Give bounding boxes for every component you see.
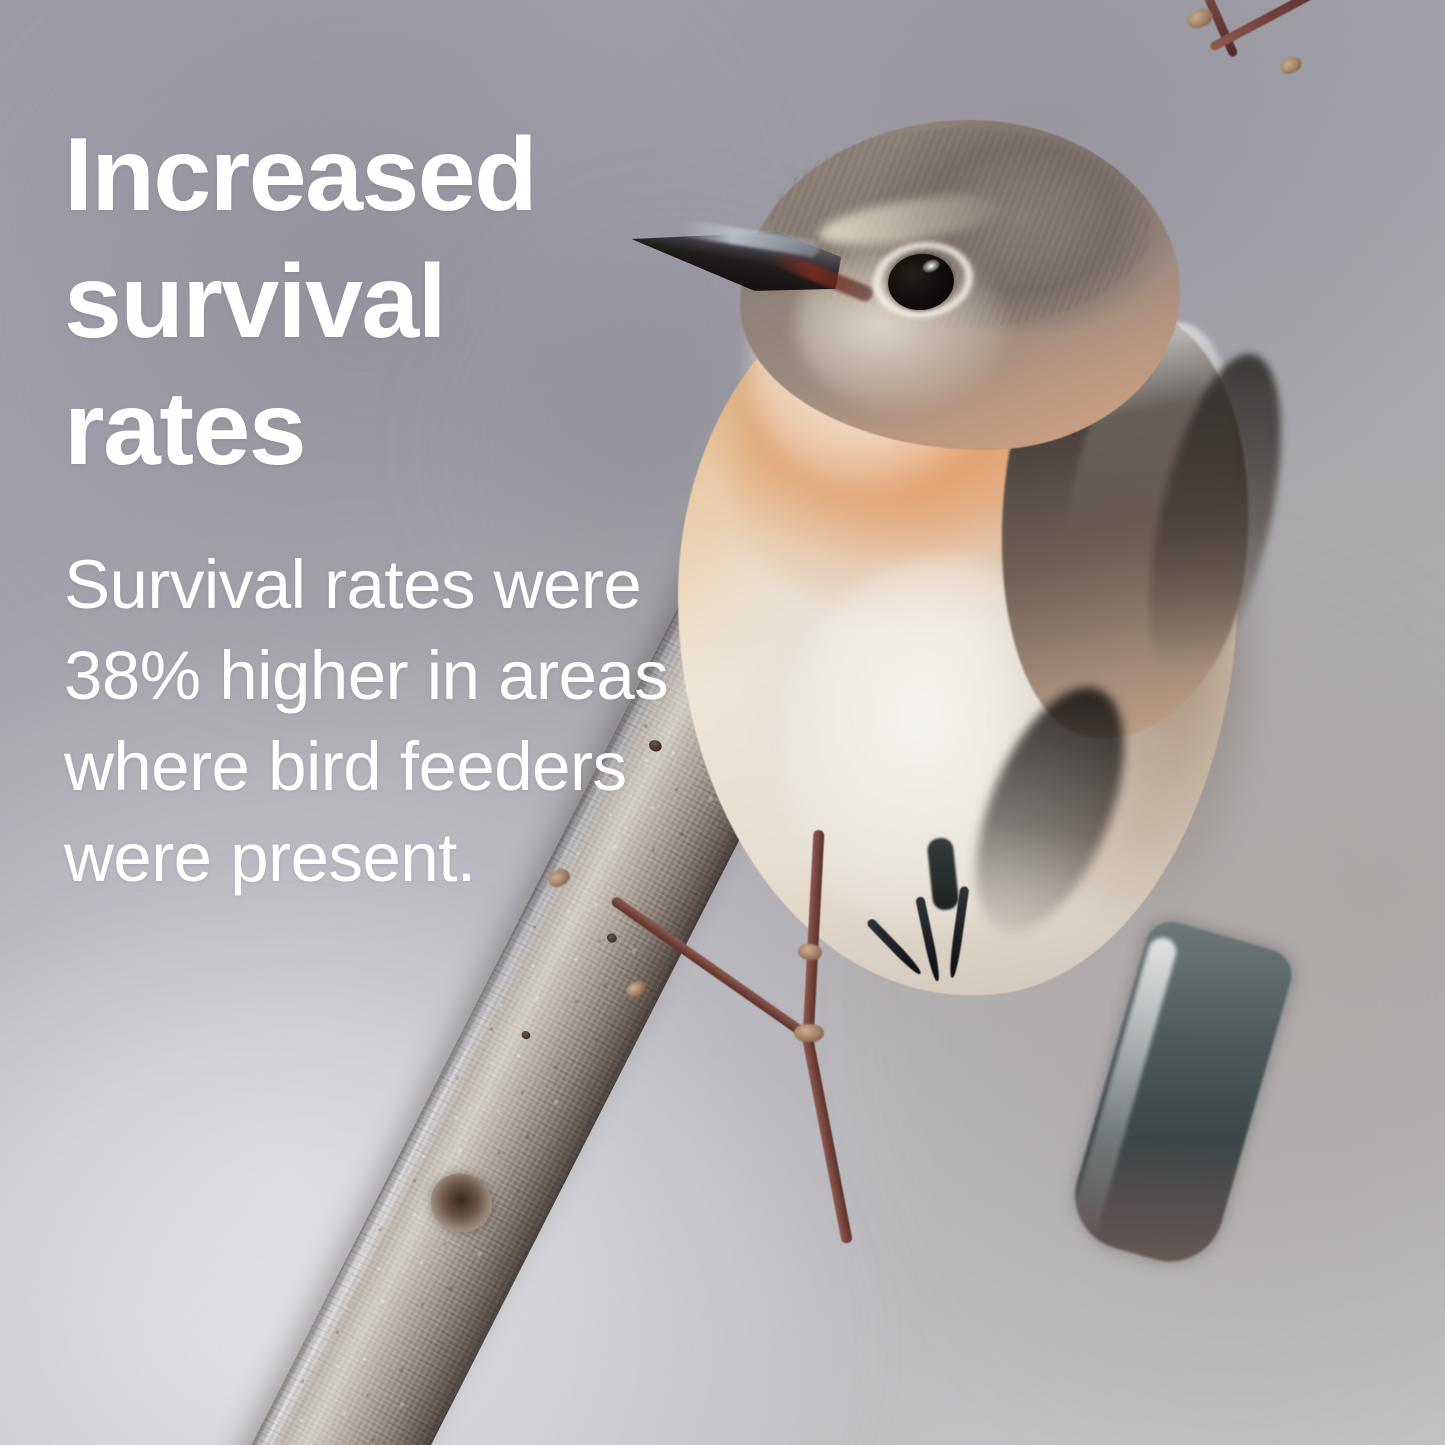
twig-bud-icon xyxy=(1278,54,1304,77)
text-overlay: Increased survival rates Survival rates … xyxy=(0,0,700,1445)
body-text: Survival rates were 38% higher in areas … xyxy=(64,539,674,903)
twig-bud-icon xyxy=(797,943,823,961)
infographic-card: Increased survival rates Survival rates … xyxy=(0,0,1445,1445)
twig-segment xyxy=(803,830,825,1040)
twig-bud-icon xyxy=(794,1024,824,1042)
headline: Increased survival rates xyxy=(64,112,664,493)
twig-segment xyxy=(802,1036,853,1244)
